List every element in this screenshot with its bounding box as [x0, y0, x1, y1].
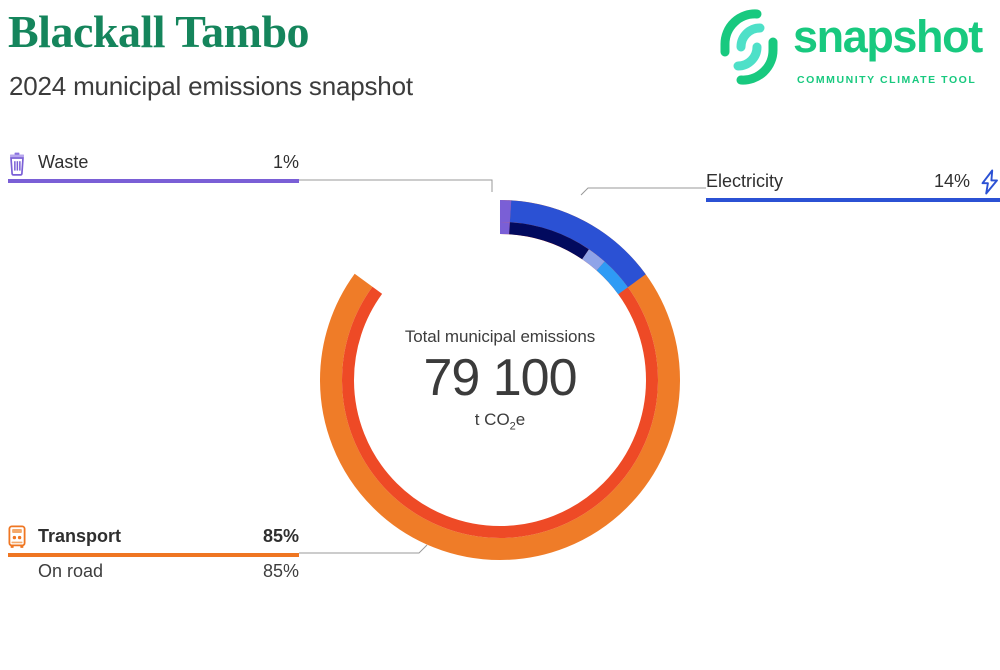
category-row-electricity[interactable]: Electricity 14% [706, 171, 1000, 197]
snapshot-logo: snapshot COMMUNITY CLIMATE TOOL [705, 4, 1000, 96]
trash-icon [6, 152, 28, 181]
category-label-waste: Waste [38, 152, 88, 173]
category-percent-waste: 1% [273, 152, 299, 173]
category-rule-transport [8, 553, 299, 557]
donut-center-unit: t CO2e [475, 410, 526, 432]
category-percent-electricity: 14% [934, 171, 970, 192]
logo-tagline: COMMUNITY CLIMATE TOOL [797, 74, 976, 86]
lightning-bolt-icon [978, 169, 1000, 200]
category-rule-fill-waste [8, 179, 299, 183]
page-subtitle: 2024 municipal emissions snapshot [9, 71, 413, 102]
subcategory-label-on-road: On road [38, 561, 103, 582]
category-rule-fill-electricity [706, 198, 1000, 202]
snapshot-spiral-icon [713, 6, 785, 88]
category-rule-fill-transport [8, 553, 299, 557]
unit-prefix: t CO [475, 410, 510, 429]
category-rule-waste [8, 179, 299, 183]
unit-suffix: e [516, 410, 525, 429]
donut-center-labels: Total municipal emissions 79 100 t CO2e [300, 180, 700, 580]
train-icon [6, 525, 28, 554]
category-label-electricity: Electricity [706, 171, 783, 192]
donut-center-caption: Total municipal emissions [405, 327, 595, 347]
header: Blackall Tambo 2024 municipal emissions … [0, 0, 1000, 130]
donut-center-value: 79 100 [423, 349, 576, 409]
category-row-transport[interactable]: Transport 85% On road 85% [8, 526, 299, 552]
category-rule-electricity [706, 198, 1000, 202]
category-percent-transport: 85% [263, 526, 299, 547]
page-title: Blackall Tambo [8, 8, 309, 56]
category-label-transport: Transport [38, 526, 121, 547]
emissions-donut-chart: Total municipal emissions 79 100 t CO2e [300, 180, 700, 580]
category-row-waste[interactable]: Waste 1% [8, 152, 299, 178]
logo-wordmark: snapshot [793, 14, 982, 59]
subcategory-percent-on-road: 85% [263, 561, 299, 582]
